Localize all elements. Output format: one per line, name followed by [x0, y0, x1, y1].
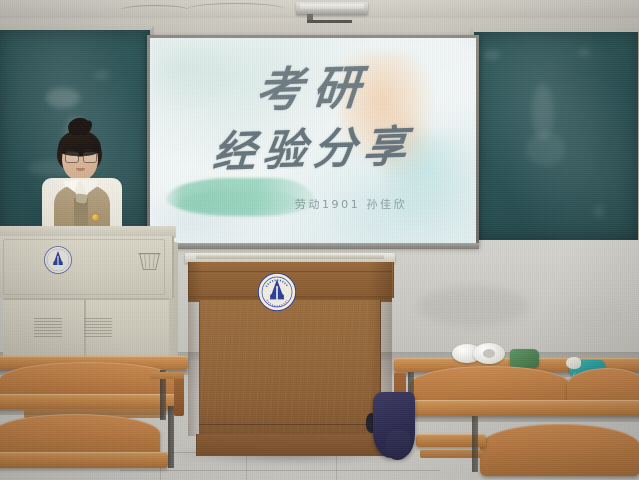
- student-chair-right-front: [480, 424, 639, 476]
- wall-mark: [418, 286, 528, 326]
- waste-bin-icon: [137, 250, 162, 272]
- university-emblem-icon: [257, 272, 297, 312]
- student-desk-left-lowest: [0, 452, 168, 468]
- desk-side-shelf: [150, 372, 184, 379]
- slide-wash-top-left: [150, 38, 240, 112]
- classroom-photo: 考研 经验分享 劳动1901 孙佳欣: [0, 0, 639, 480]
- slide-mint-brushstroke-2: [180, 190, 300, 214]
- podium-shading-left: [188, 262, 202, 436]
- chalkboard-right: [470, 28, 639, 244]
- student-presenter: [34, 118, 130, 240]
- cabinet-vent-left: [34, 318, 62, 340]
- neck-scarf: [75, 193, 87, 203]
- podium-base: [196, 434, 384, 456]
- student-desk-left-front: [0, 394, 182, 409]
- podium-top-inset: [196, 255, 384, 259]
- student-desk-right-front: [404, 400, 639, 416]
- wall-mark: [560, 300, 630, 334]
- podium-lower-seam: [199, 424, 379, 425]
- ceiling-cable: [120, 5, 190, 16]
- neck-pillow-hole: [483, 349, 495, 358]
- desk-leg: [168, 406, 174, 468]
- green-pouch: [510, 349, 539, 368]
- teal-case-flap: [566, 357, 581, 369]
- navy-jacket-fold: [386, 430, 410, 460]
- eyeglasses-icon: [64, 152, 97, 161]
- desk-leg: [472, 416, 478, 472]
- podium-front-panel: [199, 300, 381, 436]
- projection-screen[interactable]: 考研 经验分享 劳动1901 孙佳欣: [150, 38, 476, 244]
- projector-arm: [307, 20, 352, 23]
- ceiling-cable: [186, 3, 286, 16]
- projection-screen-bottom-rail: [147, 243, 479, 249]
- ceiling-light-glass: [300, 4, 364, 9]
- lapel-badge-icon: [92, 214, 99, 221]
- slide-aqua-blob: [386, 134, 476, 224]
- cabinet-vent-right: [84, 318, 112, 340]
- university-emblem-icon: [43, 245, 73, 275]
